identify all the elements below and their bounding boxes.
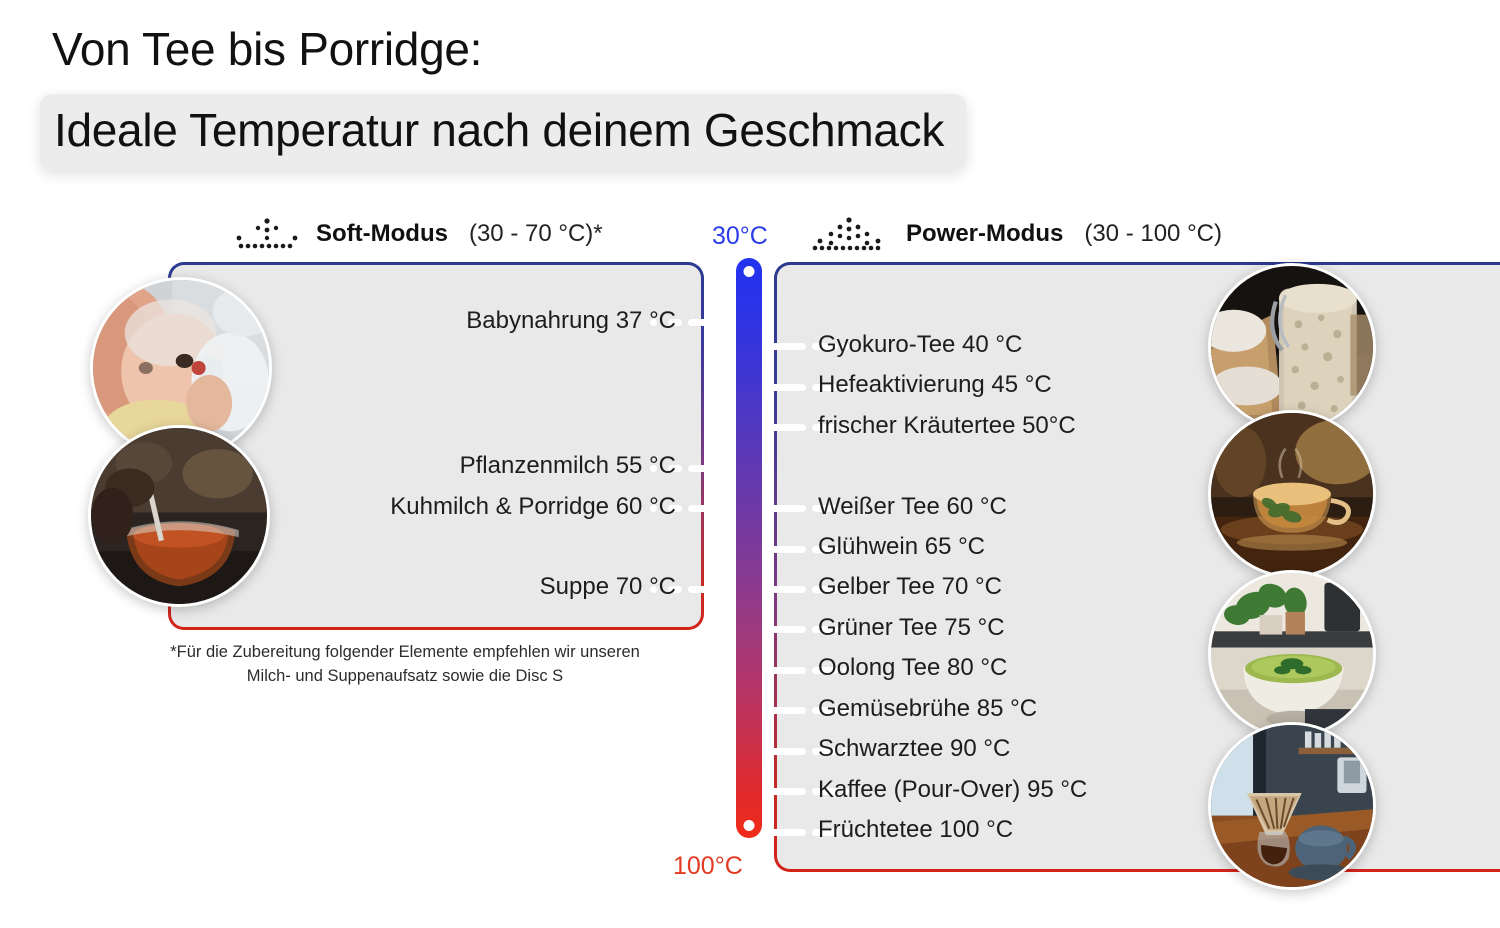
power-item-label: Weißer Tee 60 °C [818,493,1007,521]
power-item-label: Hefeaktivierung 45 °C [818,371,1052,399]
photo-sourdough-jar [1208,263,1376,431]
power-item-label: Gyokuro-Tee 40 °C [818,331,1022,359]
temperature-gradient-bar [736,258,762,838]
power-item-label: Schwarztee 90 °C [818,735,1010,763]
power-mode-range: (30 - 100 °C) [1084,220,1222,248]
tick-mark [762,505,806,512]
power-item-label: Früchtetee 100 °C [818,816,1013,844]
power-item-label: Gemüsebrühe 85 °C [818,695,1037,723]
tick-mark [762,788,806,795]
soft-mode-name: Soft-Modus [316,220,448,248]
infographic-root: Von Tee bis Porridge: Ideale Temperatur … [0,0,1500,928]
tick-mark [762,707,806,714]
tick-mark [762,586,806,593]
scale-bottom-label: 100°C [673,852,743,881]
tick-mark [762,626,806,633]
soft-item-label: Pflanzenmilch 55 °C [460,452,676,480]
soft-mode-range: (30 - 70 °C)* [469,220,603,248]
photo-herbal-tea-cup [1208,410,1376,578]
tick-mark [762,384,806,391]
scale-top-label: 30°C [712,222,768,251]
page-subtitle-pill: Ideale Temperatur nach deinem Geschmack [40,94,966,170]
page-title-line2: Ideale Temperatur nach deinem Geschmack [54,104,944,156]
footnote-text: *Für die Zubereitung folgender Elemente … [170,641,640,689]
power-item-label: Gelber Tee 70 °C [818,573,1002,601]
power-mode-name: Power-Modus [906,220,1063,248]
photo-green-soup-bowl [1208,570,1376,738]
power-item-label: Oolong Tee 80 °C [818,654,1007,682]
thermometer-bottom-dot [744,820,755,831]
page-title-line1: Von Tee bis Porridge: [52,22,482,76]
power-mode-header: Power-Modus (30 - 100 °C) [806,217,1222,251]
tick-mark [762,748,806,755]
steam-dots-icon [232,217,302,251]
tick-mark [688,505,736,512]
soft-mode-header: Soft-Modus (30 - 70 °C)* [232,217,603,251]
tick-mark [688,586,736,593]
steam-dots-icon [806,217,892,251]
tick-mark [762,343,806,350]
soft-item-label: Kuhmilch & Porridge 60 °C [390,493,676,521]
power-item-label: frischer Kräutertee 50°C [818,412,1076,440]
soft-item-label: Babynahrung 37 °C [466,307,676,335]
tick-mark [762,667,806,674]
tick-mark [762,546,806,553]
photo-soup-bowl [88,425,270,607]
thermometer-top-dot [744,266,755,277]
soft-item-label: Suppe 70 °C [540,573,676,601]
photo-pour-over-coffee [1208,722,1376,890]
power-item-label: Kaffee (Pour-Over) 95 °C [818,776,1087,804]
power-item-label: Glühwein 65 °C [818,533,985,561]
power-item-label: Grüner Tee 75 °C [818,614,1005,642]
tick-mark [688,319,736,326]
tick-mark [688,465,736,472]
tick-mark [762,424,806,431]
tick-mark [762,829,806,836]
